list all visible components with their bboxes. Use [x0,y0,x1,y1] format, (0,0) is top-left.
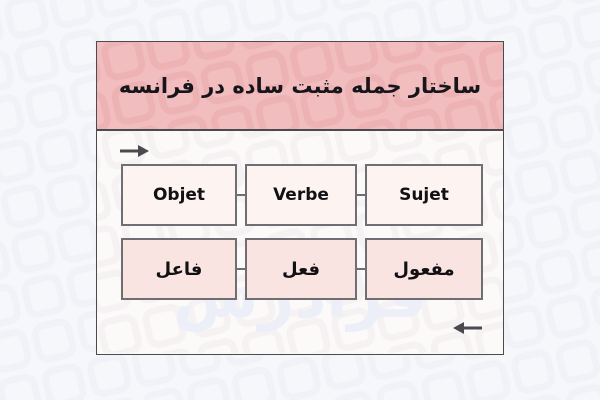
node-objet-label: Objet [153,185,205,205]
node-fel[interactable]: فعل [245,238,357,300]
french-row: Sujet Verbe Objet [121,164,483,226]
node-fel-label: فعل [282,259,320,280]
arrow-left-icon [452,321,482,335]
persian-row: مفعول فعل فاعل [121,238,483,300]
node-mafool[interactable]: مفعول [365,238,483,300]
node-mafool-label: مفعول [393,259,454,280]
node-verbe[interactable]: Verbe [245,164,357,226]
node-fael[interactable]: فاعل [121,238,237,300]
node-sujet-label: Sujet [399,185,449,205]
diagram-card: ساختار جمله مثبت ساده در فرانسه فرادرس S… [96,41,504,355]
connector-fr-1 [357,194,365,196]
node-fael-label: فاعل [156,259,203,280]
node-objet[interactable]: Objet [121,164,237,226]
sentence-structure-diagram: Sujet Verbe Objet مفعول فعل [97,131,503,354]
connector-fa-1 [357,268,365,270]
connector-fa-2 [237,268,245,270]
node-sujet[interactable]: Sujet [365,164,483,226]
card-body: فرادرس Sujet Verbe Objet [97,131,503,354]
connector-fr-2 [237,194,245,196]
card-header: ساختار جمله مثبت ساده در فرانسه [97,42,503,131]
node-verbe-label: Verbe [273,185,329,205]
page-title: ساختار جمله مثبت ساده در فرانسه [119,74,481,98]
arrow-right-icon [120,144,150,158]
